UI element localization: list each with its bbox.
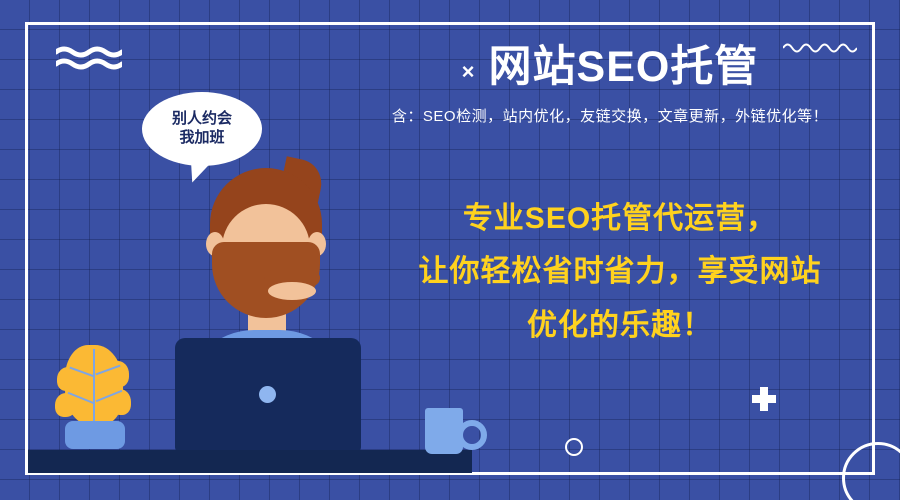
subtitle: 含：SEO检测，站内优化，友链交换，文章更新，外链优化等！	[330, 105, 890, 126]
promo-line-2: 让你轻松省时省力，享受网站	[355, 245, 885, 298]
promo-line-1: 专业SEO托管代运营，	[355, 192, 885, 245]
desk-surface	[28, 450, 472, 473]
speech-bubble: 别人约会 我加班	[142, 92, 262, 166]
page-title: 网站SEO托管	[489, 44, 759, 91]
speech-bubble-line-2: 我加班	[179, 129, 224, 148]
plus-icon	[752, 387, 776, 411]
promo-body-copy: 专业SEO托管代运营， 让你轻松省时省力，享受网站 优化的乐趣！	[355, 192, 885, 352]
title-row: × 网站SEO托管	[330, 44, 890, 91]
small-circle-outline-icon	[565, 438, 583, 456]
wave-thick-icon	[56, 46, 122, 70]
seo-promo-banner: × 网站SEO托管 含：SEO检测，站内优化，友链交换，文章更新，外链优化等！ …	[0, 0, 900, 500]
coffee-mug	[425, 408, 475, 454]
beard	[212, 242, 320, 318]
laptop	[175, 338, 361, 453]
mouth	[268, 282, 316, 300]
close-icon[interactable]: ×	[462, 61, 475, 83]
speech-bubble-text: 别人约会 我加班	[142, 92, 262, 166]
plant-pot	[65, 421, 125, 449]
headline-block: × 网站SEO托管 含：SEO检测，站内优化，友链交换，文章更新，外链优化等！	[330, 44, 890, 126]
promo-line-3: 优化的乐趣！	[355, 299, 885, 352]
speech-bubble-line-1: 别人约会	[172, 110, 232, 129]
potted-plant	[55, 345, 135, 453]
mug-body	[425, 408, 463, 454]
laptop-logo-icon	[259, 386, 276, 403]
leaf-vein	[93, 349, 95, 421]
